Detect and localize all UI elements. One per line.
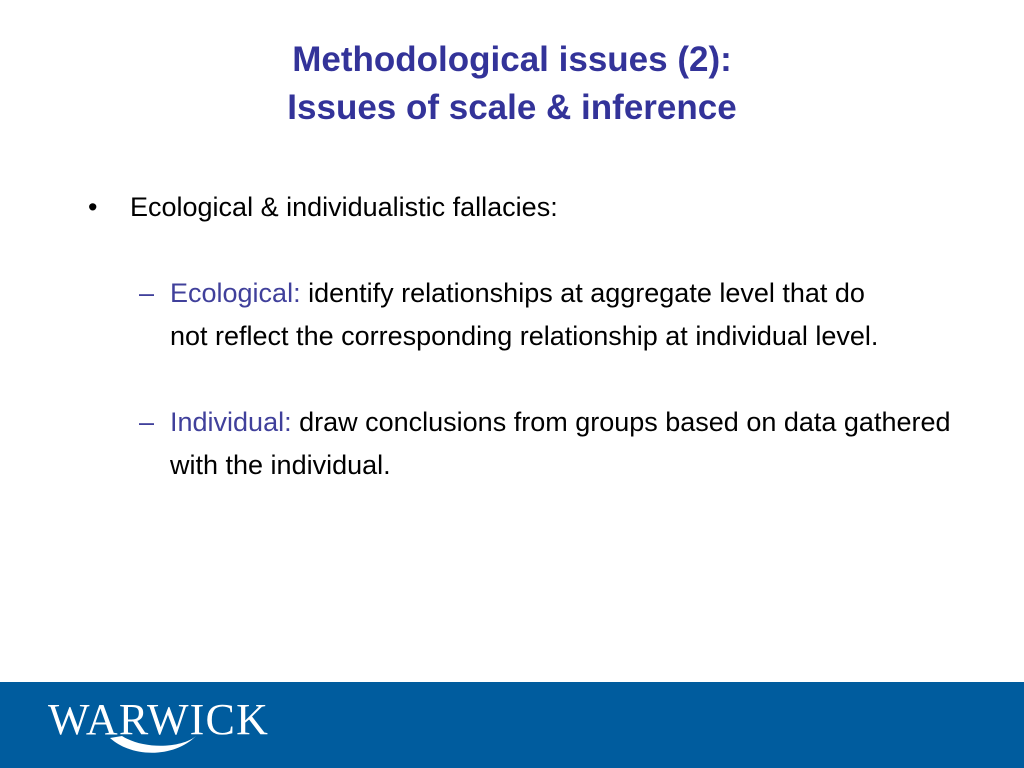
sub-bullet-individual-label: Individual: xyxy=(170,407,292,437)
body-spacer-2 xyxy=(0,358,1024,401)
en-dash-icon: – xyxy=(139,272,154,315)
slide: Methodological issues (2): Issues of sca… xyxy=(0,0,1024,768)
sub-bullet-ecological-label: Ecological: xyxy=(170,278,301,308)
sub-bullet-individual: – Individual: draw conclusions from grou… xyxy=(0,401,1024,487)
sub-bullet-ecological: – Ecological: identify relationships at … xyxy=(0,272,1024,358)
slide-body: • Ecological & individualistic fallacies… xyxy=(0,186,1024,656)
slide-title: Methodological issues (2): Issues of sca… xyxy=(0,36,1024,132)
en-dash-icon: – xyxy=(139,401,154,444)
warwick-logo-text: WARWICK xyxy=(48,696,269,744)
bullet-item-level1: • Ecological & individualistic fallacies… xyxy=(0,186,1024,229)
warwick-wordmark-icon: WARWICK xyxy=(48,696,308,754)
footer-band: WARWICK xyxy=(0,682,1024,768)
bullet-level1-text: Ecological & individualistic fallacies: xyxy=(130,192,558,222)
bullet-dot-icon: • xyxy=(88,186,97,229)
title-line-1: Methodological issues (2): xyxy=(0,36,1024,84)
body-spacer-1 xyxy=(0,229,1024,272)
warwick-logo: WARWICK xyxy=(48,696,308,754)
title-line-2: Issues of scale & inference xyxy=(0,84,1024,132)
